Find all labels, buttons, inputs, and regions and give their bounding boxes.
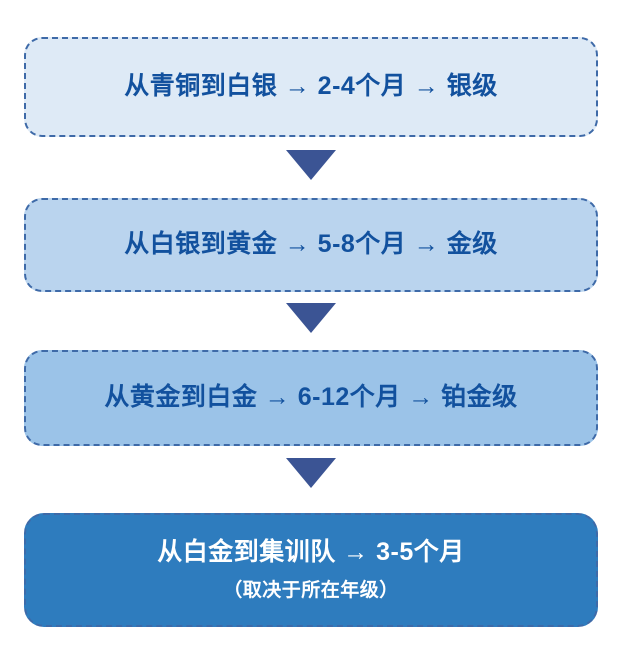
- flow-node-gold-to-platinum-label: 从黄金到白金 → 6-12个月 → 铂金级: [104, 382, 517, 413]
- flow-node-bronze-to-silver-label: 从青铜到白银 → 2-4个月 → 银级: [124, 71, 497, 102]
- down-arrow-icon: [286, 303, 336, 333]
- flow-node-gold-to-platinum: 从黄金到白金 → 6-12个月 → 铂金级: [24, 350, 598, 446]
- progression-flowchart: 从青铜到白银 → 2-4个月 → 银级 从白银到黄金 → 5-8个月 → 金级 …: [0, 0, 622, 645]
- flow-node-platinum-to-training-team-label: 从白金到集训队 → 3-5个月: [157, 537, 465, 568]
- flow-node-platinum-to-training-team: 从白金到集训队 → 3-5个月 （取决于所在年级）: [24, 513, 598, 627]
- flow-node-silver-to-gold-label: 从白银到黄金 → 5-8个月 → 金级: [124, 229, 497, 260]
- flow-node-silver-to-gold: 从白银到黄金 → 5-8个月 → 金级: [24, 198, 598, 292]
- flow-node-bronze-to-silver: 从青铜到白银 → 2-4个月 → 银级: [24, 37, 598, 137]
- down-arrow-icon: [286, 458, 336, 488]
- flow-node-platinum-to-training-team-note: （取决于所在年级）: [223, 578, 399, 604]
- down-arrow-icon: [286, 150, 336, 180]
